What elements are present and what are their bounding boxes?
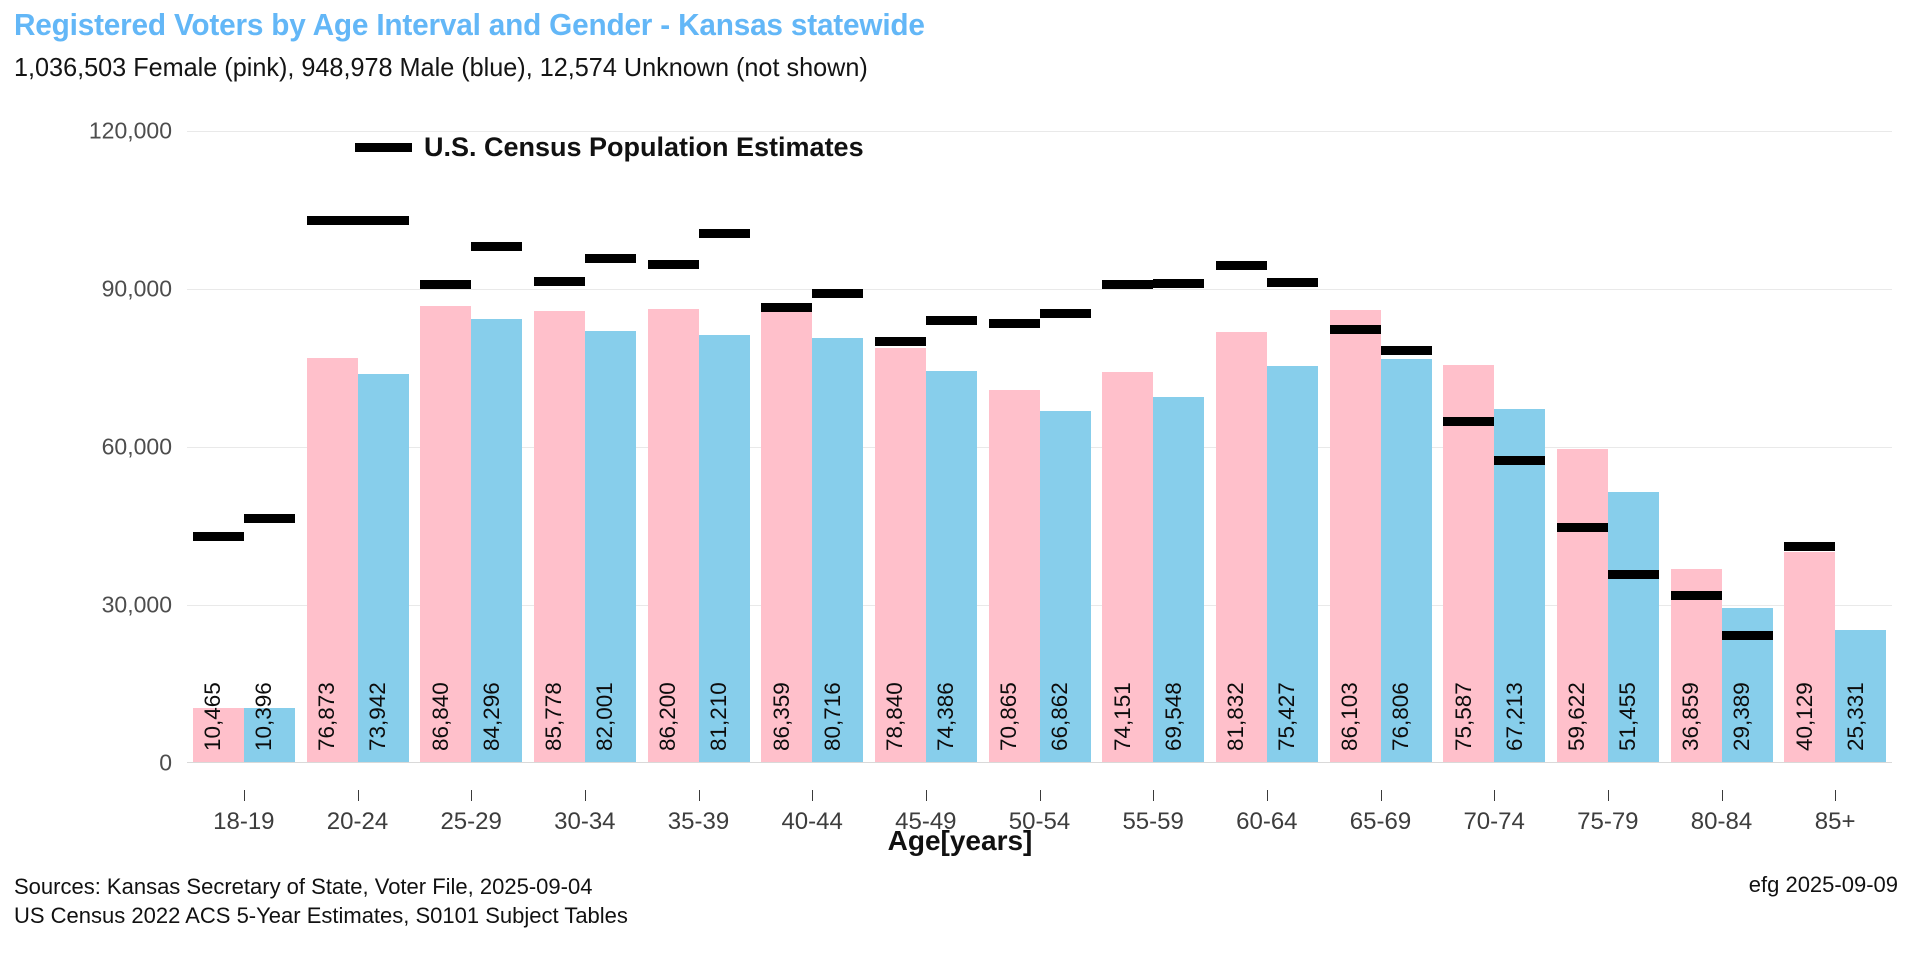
census-estimate-marker <box>1381 346 1432 355</box>
bar-value-label: 86,359 <box>769 682 795 751</box>
bar-value-label: 51,455 <box>1615 682 1641 751</box>
bar-group: 86,20081,210 <box>648 131 750 763</box>
footer-source-line-1: Sources: Kansas Secretary of State, Vote… <box>14 872 628 901</box>
census-estimate-marker <box>1722 631 1773 640</box>
census-estimate-marker <box>699 229 750 238</box>
page-title: Registered Voters by Age Interval and Ge… <box>14 7 925 43</box>
census-estimate-marker <box>1153 279 1204 288</box>
bar-value-label: 10,465 <box>200 682 226 751</box>
bar-value-label: 80,716 <box>820 682 846 751</box>
bar-value-label: 59,622 <box>1564 682 1590 751</box>
bar-group: 36,85929,389 <box>1671 131 1773 763</box>
x-axis-label: Age[years] <box>0 825 1920 857</box>
census-estimate-marker <box>358 216 409 225</box>
bar-value-label: 10,396 <box>251 682 277 751</box>
census-estimate-marker <box>1102 280 1153 289</box>
bar-group: 70,86566,862 <box>989 131 1091 763</box>
x-axis-tick <box>1153 790 1154 801</box>
census-estimate-marker <box>534 277 585 286</box>
census-estimate-marker <box>875 337 926 346</box>
chart-subtitle: 1,036,503 Female (pink), 948,978 Male (b… <box>14 52 868 83</box>
bar-value-label: 78,840 <box>882 682 908 751</box>
y-axis-tick-label: 90,000 <box>102 276 172 303</box>
census-estimate-marker <box>585 254 636 263</box>
bar-group: 86,35980,716 <box>761 131 863 763</box>
bar-value-label: 76,873 <box>314 682 340 751</box>
bar-group: 40,12925,331 <box>1784 131 1886 763</box>
y-axis-tick-label: 30,000 <box>102 592 172 619</box>
bar-group: 85,77882,001 <box>534 131 636 763</box>
bar-value-label: 70,865 <box>996 682 1022 751</box>
bar-group: 74,15169,548 <box>1102 131 1204 763</box>
bar-value-label: 75,427 <box>1274 682 1300 751</box>
census-estimate-marker <box>420 280 471 289</box>
x-axis-tick <box>471 790 472 801</box>
bar-group: 59,62251,455 <box>1557 131 1659 763</box>
bar-value-label: 85,778 <box>541 682 567 751</box>
census-estimate-marker <box>307 216 358 225</box>
x-axis-tick <box>1608 790 1609 801</box>
bar-value-label: 74,151 <box>1110 682 1136 751</box>
census-estimate-marker <box>1267 278 1318 287</box>
census-estimate-marker <box>193 532 244 541</box>
bar-value-label: 40,129 <box>1792 682 1818 751</box>
x-axis-tick <box>1835 790 1836 801</box>
census-estimate-marker <box>648 260 699 269</box>
bar-group: 76,87373,942 <box>307 131 409 763</box>
y-axis-tick-label: 0 <box>159 750 172 777</box>
bar-value-label: 36,859 <box>1678 682 1704 751</box>
bar-value-label: 25,331 <box>1843 682 1869 751</box>
census-estimate-marker <box>471 242 522 251</box>
bar-group: 81,83275,427 <box>1216 131 1318 763</box>
bar-value-label: 76,806 <box>1388 682 1414 751</box>
bar-value-label: 81,210 <box>706 682 732 751</box>
footer-credit: efg 2025-09-09 <box>1749 872 1898 898</box>
census-estimate-marker <box>1443 417 1494 426</box>
x-axis-tick <box>926 790 927 801</box>
bar-value-label: 73,942 <box>365 682 391 751</box>
census-estimate-marker <box>1608 570 1659 579</box>
bar-value-label: 86,840 <box>428 682 454 751</box>
x-axis-tick <box>1267 790 1268 801</box>
bar-group: 10,46510,396 <box>193 131 295 763</box>
bar-group: 75,58767,213 <box>1443 131 1545 763</box>
footer-sources: Sources: Kansas Secretary of State, Vote… <box>14 872 628 931</box>
x-axis-tick <box>1494 790 1495 801</box>
x-axis-tick <box>244 790 245 801</box>
y-axis-tick-label: 120,000 <box>89 118 172 145</box>
bar-group: 86,10376,806 <box>1330 131 1432 763</box>
bar-group: 78,84074,386 <box>875 131 977 763</box>
x-axis-tick <box>699 790 700 801</box>
census-estimate-marker <box>1784 542 1835 551</box>
census-estimate-marker <box>244 514 295 523</box>
census-estimate-marker <box>761 303 812 312</box>
census-estimate-marker <box>926 316 977 325</box>
bar-group: 86,84084,296 <box>420 131 522 763</box>
y-axis-tick-label: 60,000 <box>102 434 172 461</box>
black-line-swatch-icon <box>355 143 412 152</box>
census-estimate-marker <box>1557 523 1608 532</box>
census-estimate-marker <box>1671 591 1722 600</box>
bar-value-label: 86,103 <box>1337 682 1363 751</box>
bar-value-label: 81,832 <box>1223 682 1249 751</box>
census-estimate-marker <box>1330 325 1381 334</box>
chart-page: Registered Voters by Age Interval and Ge… <box>0 0 1920 960</box>
plot-area: 10,46510,39676,87373,94286,84084,29685,7… <box>187 131 1892 763</box>
x-axis-tick <box>358 790 359 801</box>
census-estimate-marker <box>812 289 863 298</box>
bar-value-label: 84,296 <box>479 682 505 751</box>
bar-value-label: 69,548 <box>1161 682 1187 751</box>
census-estimate-marker <box>1040 309 1091 318</box>
bar-value-label: 67,213 <box>1502 682 1528 751</box>
legend-item-label: U.S. Census Population Estimates <box>424 132 864 163</box>
x-axis-tick <box>812 790 813 801</box>
bar-value-label: 74,386 <box>933 682 959 751</box>
x-axis-tick <box>1381 790 1382 801</box>
footer-source-line-2: US Census 2022 ACS 5-Year Estimates, S01… <box>14 901 628 930</box>
bar-value-label: 82,001 <box>592 682 618 751</box>
x-axis-tick <box>1040 790 1041 801</box>
legend: U.S. Census Population Estimates <box>355 132 864 163</box>
x-axis-tick <box>1722 790 1723 801</box>
bar-value-label: 75,587 <box>1451 682 1477 751</box>
bar-value-label: 66,862 <box>1047 682 1073 751</box>
x-axis-baseline <box>187 762 1892 763</box>
bar-value-label: 29,389 <box>1729 682 1755 751</box>
bar-value-label: 86,200 <box>655 682 681 751</box>
census-estimate-marker <box>989 319 1040 328</box>
census-estimate-marker <box>1216 261 1267 270</box>
census-estimate-marker <box>1494 456 1545 465</box>
x-axis-tick <box>585 790 586 801</box>
